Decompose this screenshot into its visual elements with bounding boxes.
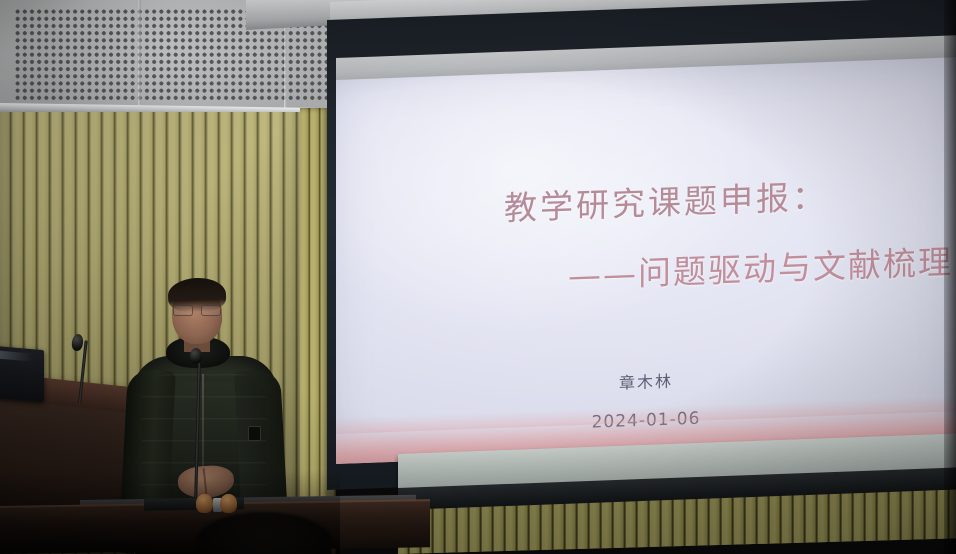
slide-title-line1: 教学研究课题申报： (504, 170, 828, 230)
wall-bottom-shadow (0, 470, 340, 554)
slide-presenter-name: 章木林 (336, 357, 956, 404)
acoustic-panel-seam (138, 0, 141, 108)
jacket-sleeve-patch (248, 426, 261, 441)
eyeglasses-icon (172, 305, 222, 314)
stand-microphone-icon (190, 348, 202, 364)
lecture-hall-scene: 教学研究课题申报： ——问题驱动与文献梳理 章木林 2024-01-06 (0, 0, 956, 554)
slide-title-line2: ——问题驱动与文献梳理 (568, 235, 953, 297)
projection-screen[interactable]: 教学研究课题申报： ——问题驱动与文献梳理 章木林 2024-01-06 (336, 57, 956, 464)
